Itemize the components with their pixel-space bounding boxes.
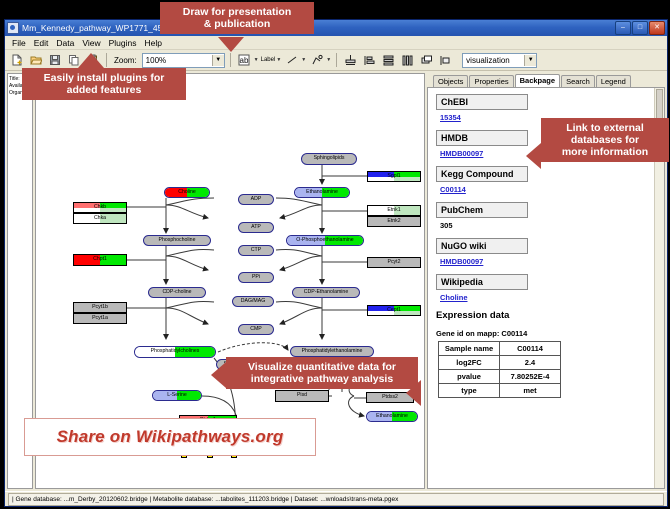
node-label: ADP: [251, 197, 262, 202]
metabolite-node-sphingolipids[interactable]: Sphingolipids: [301, 153, 357, 165]
callout-links: Link to external databases for more info…: [541, 118, 669, 162]
node-label: Sphingolipids: [314, 156, 345, 161]
metabolite-node-atp[interactable]: ATP: [238, 222, 274, 233]
menu-item-view[interactable]: View: [78, 38, 104, 48]
node-label: Phosphatidylcholines: [151, 349, 200, 354]
status-text: | Gene database: ...m_Derby_20120602.bri…: [8, 493, 664, 506]
zoom-value: 100%: [146, 56, 166, 65]
callout-links-arrow: [526, 143, 541, 169]
minimize-button[interactable]: –: [615, 21, 631, 35]
node-label: Chpt1: [93, 257, 107, 262]
callout-draw-line1: Draw for presentation: [166, 6, 308, 18]
callout-plugins-line2: added features: [28, 84, 180, 96]
metabolite-node-cdp-choline[interactable]: CDP-choline: [148, 287, 206, 298]
node-label: Etnk2: [387, 219, 400, 224]
expression-data-table: Sample nameC00114log2FC2.4pvalue7.80252E…: [438, 341, 561, 398]
metabolite-node-cmp[interactable]: CMP: [238, 324, 274, 335]
node-label: L-Serine: [167, 393, 187, 398]
tab-backpage[interactable]: Backpage: [515, 74, 560, 87]
node-label: Ethanolamine: [306, 190, 338, 195]
node-label: Ptdss2: [382, 395, 398, 400]
align-icon[interactable]: [342, 52, 359, 69]
menu-bar: File Edit Data View Plugins Help: [5, 36, 667, 50]
panel-tab-strip: ObjectsPropertiesBackpageSearchLegend: [427, 73, 665, 87]
callout-visualize-arrow: [211, 362, 226, 388]
stack-icon[interactable]: [380, 52, 397, 69]
node-label: CDP-choline: [162, 290, 191, 295]
node-label: Pcyt2: [388, 260, 401, 265]
share-text: Share on Wikipathways.org: [57, 427, 284, 447]
save-icon[interactable]: [46, 52, 63, 69]
menu-item-data[interactable]: Data: [52, 38, 78, 48]
metabolite-node-adp[interactable]: ADP: [238, 194, 274, 205]
node-label: CTP: [251, 248, 261, 253]
interaction-tool[interactable]: ▼: [308, 52, 331, 69]
metabolite-node-phosphatidylcholines[interactable]: Phosphatidylcholines: [134, 346, 216, 358]
label-tool[interactable]: Label ▼: [261, 57, 282, 63]
metabolite-node-choline[interactable]: Choline: [164, 187, 210, 198]
database-value-nugo-wiki[interactable]: HMDB00097: [440, 257, 656, 266]
node-label: CMP: [250, 327, 262, 332]
callout-links-line2: databases for: [547, 134, 663, 146]
share-banner: Share on Wikipathways.org: [24, 418, 316, 456]
database-name-wikipedia: Wikipedia: [436, 274, 528, 290]
gene-node-chka[interactable]: Chka: [73, 213, 127, 224]
metabolite-node-phosphocholine[interactable]: Phosphocholine: [143, 235, 211, 246]
metabolite-node-ethanolamine[interactable]: Ethanolamine: [294, 187, 350, 198]
table-row: pvalue7.80252E-4: [439, 370, 561, 384]
database-value-pubchem: 305: [440, 221, 656, 230]
gene-id-on-mapp: Gene id on mapp: C00114: [436, 329, 656, 338]
zoom-combobox[interactable]: 100% ▼: [142, 53, 225, 68]
table-cell-key: log2FC: [439, 356, 500, 370]
gene-node-chpt1[interactable]: Chpt1: [73, 254, 127, 266]
node-label: O-Phosphoethanolamine: [296, 238, 353, 243]
close-button[interactable]: ✕: [649, 21, 665, 35]
line-tool[interactable]: ▼: [283, 52, 306, 69]
database-name-chebi: ChEBI: [436, 94, 528, 110]
menu-item-plugins[interactable]: Plugins: [105, 38, 141, 48]
text-format-icon[interactable]: ab: [236, 52, 253, 69]
gene-node-sgpl1[interactable]: Sgpl1: [367, 171, 421, 182]
toolbar-separator-2: [230, 53, 231, 67]
menu-item-file[interactable]: File: [8, 38, 30, 48]
chevron-down-icon[interactable]: ▼: [326, 57, 331, 63]
node-label: Sgpl1: [387, 174, 400, 179]
node-label: ATP: [251, 225, 261, 230]
node-label: PPi: [252, 275, 260, 280]
gene-node-chkb[interactable]: Chkb: [73, 202, 127, 213]
gene-node-pcyt1b[interactable]: Pcyt1b: [73, 302, 127, 313]
tab-objects[interactable]: Objects: [433, 75, 468, 87]
node-label: Ethanolamine: [376, 414, 408, 419]
chevron-down-icon[interactable]: ▼: [212, 55, 224, 66]
callout-visualize-line1: Visualize quantitative data for: [232, 361, 412, 373]
table-row: typemet: [439, 384, 561, 398]
toolbar-separator-3: [336, 53, 337, 67]
menu-item-edit[interactable]: Edit: [30, 38, 53, 48]
database-name-pubchem: PubChem: [436, 202, 528, 218]
callout-draw-arrow: [218, 37, 244, 52]
metabolite-node-phosphatidylethanolamine[interactable]: Phosphatidylethanolamine: [290, 346, 374, 357]
table-cell-key: Sample name: [439, 342, 500, 356]
chevron-down-icon[interactable]: ▼: [301, 57, 306, 63]
zoom-label: Zoom:: [114, 56, 137, 65]
table-cell-key: pvalue: [439, 370, 500, 384]
metabolite-node-ctp[interactable]: CTP: [238, 245, 274, 256]
node-label: CDP-Ethanolamine: [304, 290, 348, 295]
distribute-icon[interactable]: [399, 52, 416, 69]
callout-plugins-line1: Easily install plugins for: [28, 72, 180, 84]
database-name-nugo-wiki: NuGO wiki: [436, 238, 528, 254]
app-icon: [7, 22, 19, 34]
node-label: Pcyt1a: [92, 316, 108, 321]
database-name-hmdb: HMDB: [436, 130, 528, 146]
gene-node-pcyt1a[interactable]: Pcyt1a: [73, 313, 127, 324]
expression-data-heading: Expression data: [436, 310, 656, 321]
table-cell-value: 2.4: [500, 356, 561, 370]
visualization-value: visualization: [466, 56, 510, 65]
callout-visualize-line2: integrative pathway analysis: [232, 373, 412, 385]
table-cell-value: met: [500, 384, 561, 398]
node-label: Chka: [94, 216, 106, 221]
status-bar: | Gene database: ...m_Derby_20120602.bri…: [5, 491, 667, 506]
table-cell-value: C00114: [500, 342, 561, 356]
node-label: Etnk1: [387, 208, 400, 213]
window-controls: – □ ✕: [615, 21, 665, 35]
node-label: Pcyt1b: [92, 305, 108, 310]
callout-links-line1: Link to external: [547, 122, 663, 134]
tab-properties[interactable]: Properties: [469, 75, 513, 87]
node-label: Chkb: [94, 205, 106, 210]
gene-node-pcyt2[interactable]: Pcyt2: [367, 257, 421, 268]
callout-visualize-arrow-right: [406, 380, 421, 406]
menu-item-help[interactable]: Help: [141, 38, 166, 48]
label-tool-text: Label: [261, 57, 276, 63]
screenshot-root: Mm_Kennedy_pathway_WP1771_45176.gpml – □…: [0, 0, 670, 509]
database-value-wikipedia[interactable]: Choline: [440, 293, 656, 302]
gene-node-etnk1[interactable]: Etnk1: [367, 205, 421, 216]
window-title-bar: Mm_Kennedy_pathway_WP1771_45176.gpml – □…: [5, 20, 667, 36]
toolbar-separator-1: [106, 53, 107, 67]
metabolite-node-cdp-ethanolamine[interactable]: CDP-Ethanolamine: [292, 287, 360, 298]
node-label: Phosphocholine: [159, 238, 196, 243]
node-label: Cept1: [387, 308, 401, 313]
callout-draw-line2: & publication: [166, 18, 308, 30]
metabolite-node-ppi[interactable]: PPi: [238, 272, 274, 283]
open-folder-icon[interactable]: [27, 52, 44, 69]
gene-node-etnk2[interactable]: Etnk2: [367, 216, 421, 227]
callout-plugins-arrow: [78, 53, 104, 68]
new-file-icon[interactable]: [8, 52, 25, 69]
database-name-kegg-compound: Kegg Compound: [436, 166, 528, 182]
chevron-down-icon[interactable]: ▼: [276, 57, 281, 63]
svg-text:ab: ab: [240, 56, 249, 65]
chevron-down-icon[interactable]: ▼: [254, 57, 259, 63]
database-value-kegg-compound[interactable]: C00114: [440, 185, 656, 194]
callout-plugins: Easily install plugins for added feature…: [22, 68, 186, 100]
interaction-icon[interactable]: [308, 52, 325, 69]
callout-draw: Draw for presentation & publication: [160, 2, 314, 34]
group-icon[interactable]: [437, 52, 454, 69]
node-label: DAG/MAG: [241, 299, 266, 304]
text-format-tool[interactable]: ab ▼: [236, 52, 259, 69]
line-icon[interactable]: [283, 52, 300, 69]
order-icon[interactable]: [418, 52, 435, 69]
table-row: Sample nameC00114: [439, 342, 561, 356]
callout-links-line3: more information: [547, 146, 663, 158]
maximize-button[interactable]: □: [632, 21, 648, 35]
table-cell-value: 7.80252E-4: [500, 370, 561, 384]
gene-node-cept1[interactable]: Cept1: [367, 305, 421, 316]
metabolite-node-l-serine[interactable]: L-Serine: [152, 390, 202, 401]
metabolite-node-ethanolamine[interactable]: Ethanolamine: [366, 411, 418, 422]
node-label: Choline: [178, 190, 196, 195]
chevron-down-icon[interactable]: ▼: [524, 55, 536, 66]
table-cell-key: type: [439, 384, 500, 398]
tab-search[interactable]: Search: [561, 75, 595, 87]
visualization-combobox[interactable]: visualization ▼: [462, 53, 537, 68]
table-row: log2FC2.4: [439, 356, 561, 370]
callout-visualize: Visualize quantitative data for integrat…: [226, 357, 418, 389]
align-left-icon[interactable]: [361, 52, 378, 69]
tab-legend[interactable]: Legend: [596, 75, 631, 87]
gene-node-pisd[interactable]: Pisd: [275, 390, 329, 402]
metabolite-node-o-phosphoethanolamine[interactable]: O-Phosphoethanolamine: [286, 235, 364, 246]
metabolite-node-dag-mag[interactable]: DAG/MAG: [232, 296, 274, 307]
node-label: Pisd: [297, 393, 307, 398]
node-label: Phosphatidylethanolamine: [302, 349, 363, 354]
